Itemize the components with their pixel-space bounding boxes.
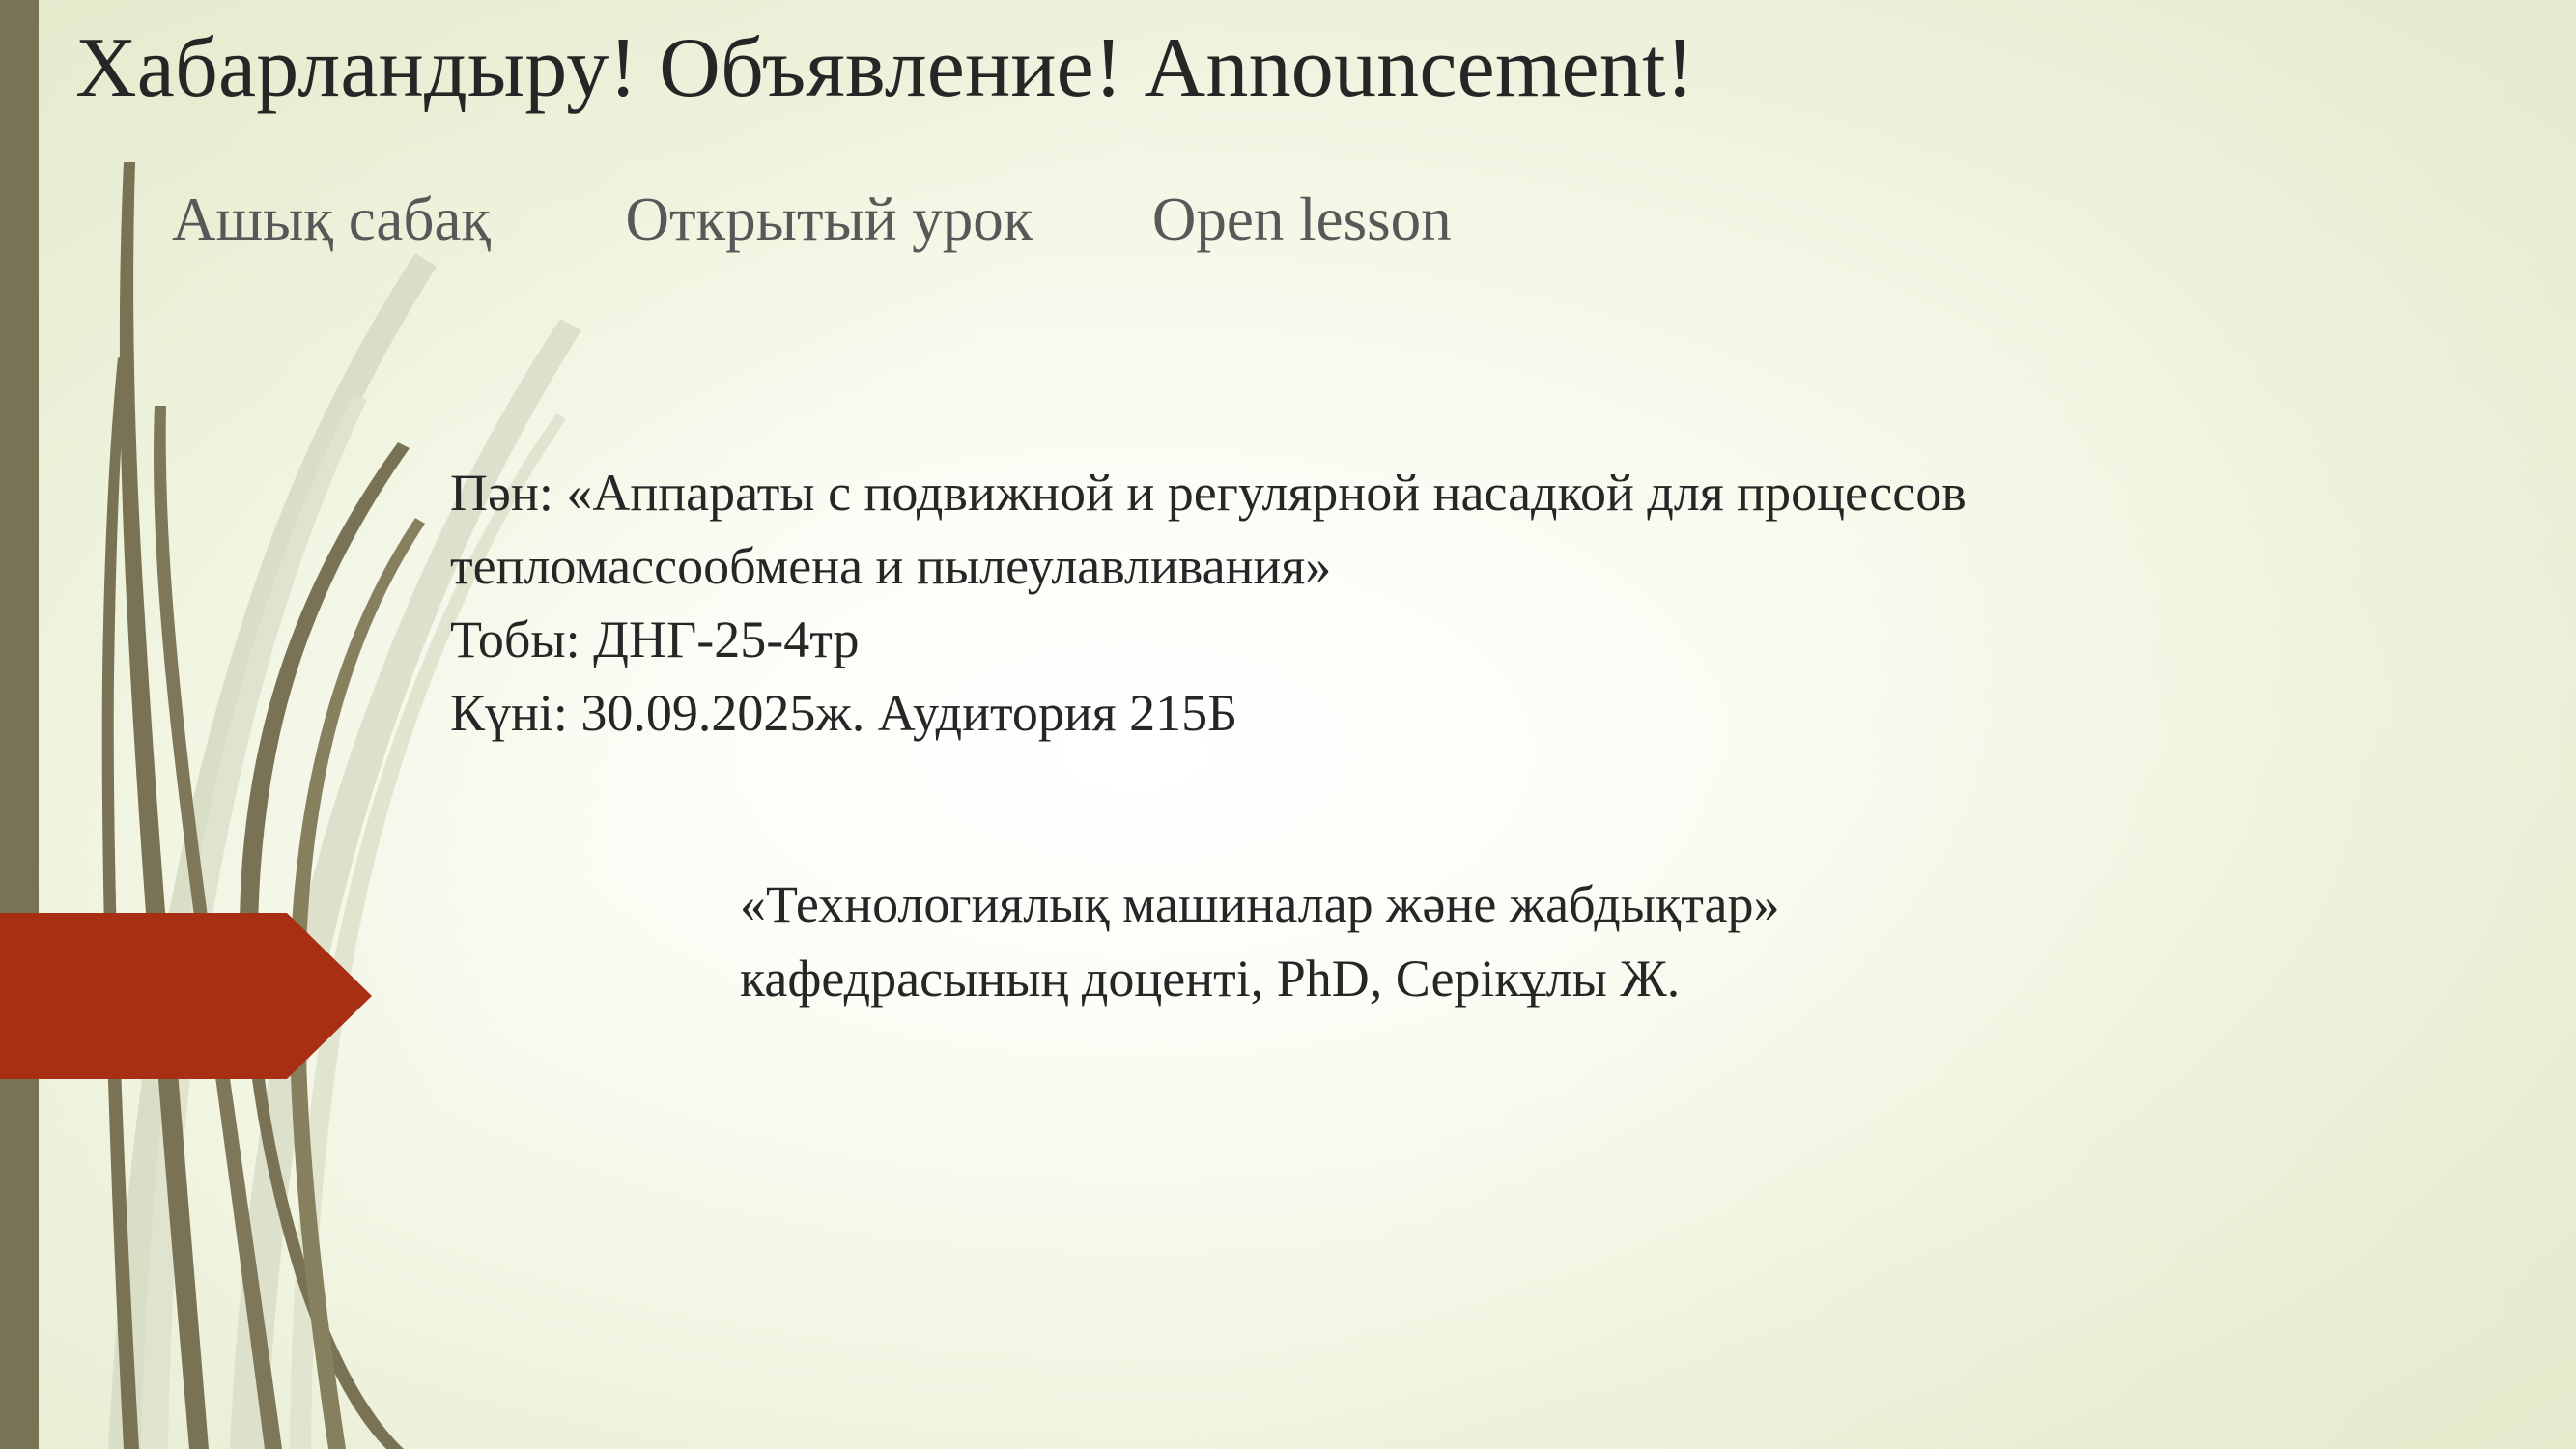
lesson-details: Пән: «Аппараты с подвижной и регулярной …	[450, 456, 2372, 751]
grass-blade-pale-1	[108, 253, 437, 1449]
date-and-room-line: Күні: 30.09.2025ж. Аудитория 215Б	[450, 676, 2372, 750]
group-line: Тобы: ДНГ-25-4тр	[450, 603, 2372, 676]
department-name: «Технологиялық машиналар және жабдықтар»	[740, 867, 2478, 942]
presenter-name: кафедрасының доценті, PhD, Серікұлы Ж.	[740, 942, 2478, 1016]
subtitle-english: Open lesson	[1152, 185, 1452, 253]
grass-stem-dark-2	[102, 357, 139, 1449]
red-chevron-arrow	[0, 913, 372, 1079]
subject-line-continued: тепломассообмена и пылеулавливания»	[450, 529, 2372, 603]
announcement-slide: Хабарландыру! Объявление! Announcement! …	[0, 0, 2576, 1449]
chevron-shape	[0, 913, 372, 1079]
subtitle-kazakh: Ашық сабақ	[172, 185, 491, 253]
left-accent-bar	[0, 0, 39, 1449]
page-title: Хабарландыру! Объявление! Announcement!	[75, 21, 2490, 117]
subject-line: Пән: «Аппараты с подвижной и регулярной …	[450, 456, 2372, 529]
grass-stem-dark-1	[120, 162, 209, 1449]
subtitle-row: Ашық сабақ Открытый урок Open lesson	[172, 186, 2490, 253]
subtitle-russian: Открытый урок	[626, 185, 1033, 253]
presenter-signature: «Технологиялық машиналар және жабдықтар»…	[740, 867, 2478, 1015]
